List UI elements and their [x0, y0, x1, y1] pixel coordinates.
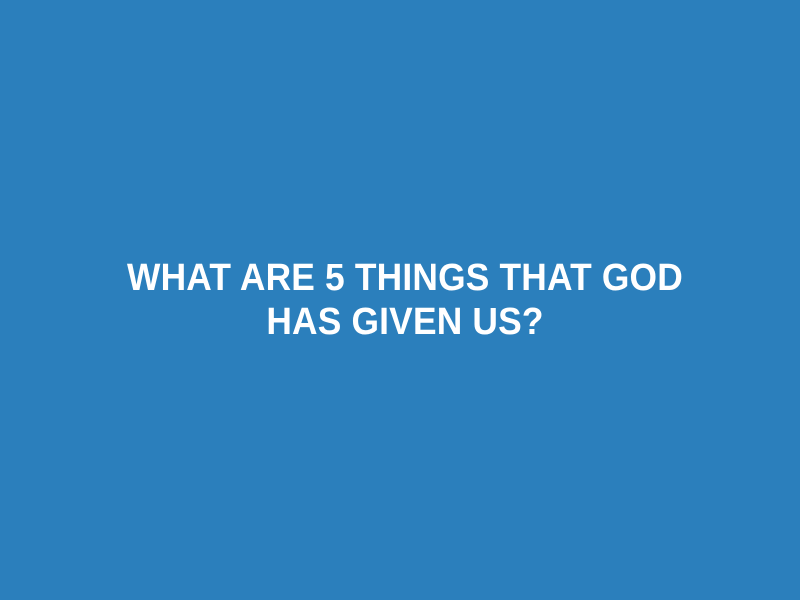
- title-card: What are 5 things that God has given us?: [0, 0, 800, 600]
- page-title: What are 5 things that God has given us?: [126, 256, 684, 344]
- title-block: What are 5 things that God has given us?: [105, 256, 705, 344]
